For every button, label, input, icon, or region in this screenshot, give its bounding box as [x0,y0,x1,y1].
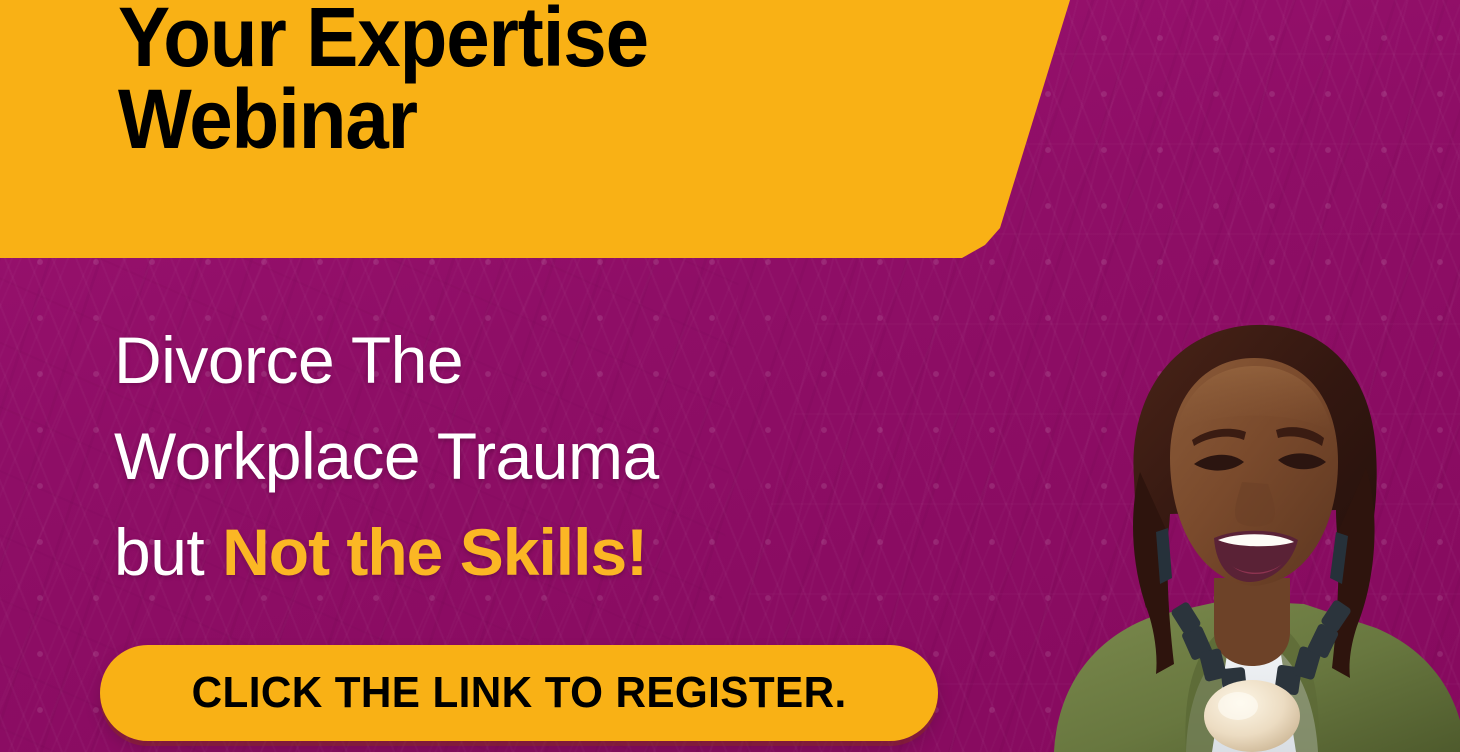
register-button[interactable]: CLICK THE LINK TO REGISTER. [100,645,938,741]
headline: Divorce The Workplace Trauma but Not the… [114,312,874,600]
headline-line-3: but Not the Skills! [114,504,874,600]
title-banner: How to Monetize Your Expertise Webinar [0,0,1090,258]
headline-accent-text: Not the Skills! [222,515,647,589]
presenter-photo [1036,282,1460,752]
register-button-label: CLICK THE LINK TO REGISTER. [192,668,847,718]
headline-line-2: Workplace Trauma [114,408,874,504]
promo-graphic: How to Monetize Your Expertise Webinar D… [0,0,1460,752]
banner-title: How to Monetize Your Expertise Webinar [118,0,955,160]
headline-line-1: Divorce The [114,312,874,408]
headline-line-3-prefix: but [114,515,222,589]
